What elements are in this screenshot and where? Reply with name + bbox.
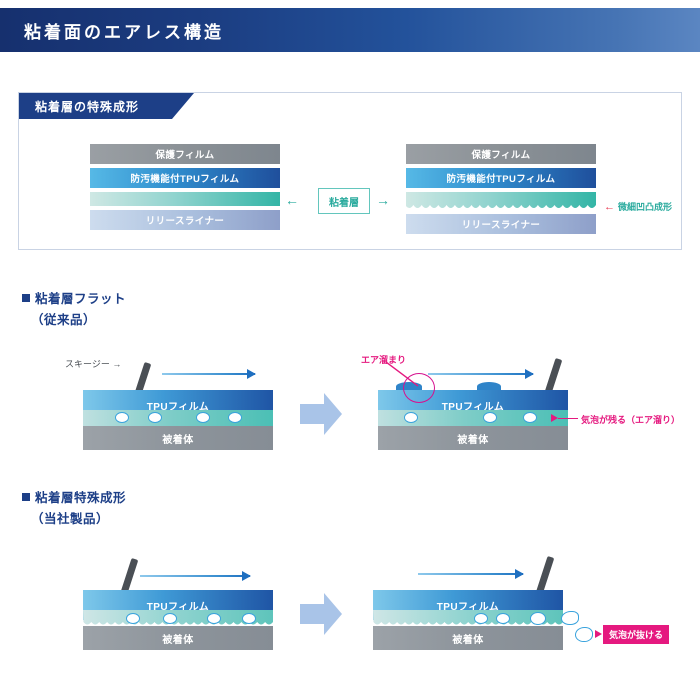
layer-stack-textured: 保護フィルム 防汚機能付TPUフィルム リリースライナー [406,144,596,234]
process-arrow-flat [300,392,342,436]
bubbles-escape-label: 気泡が抜ける [603,625,669,644]
arrow-line [418,573,523,575]
layer-label: 防汚機能付TPUフィルム [447,171,556,185]
page-root: 粘着面のエアレス構造 粘着層の特殊成形 保護フィルム 防汚機能付TPUフィルム … [0,0,700,700]
layer-protective-film: 保護フィルム [90,144,280,164]
substrate-block: 被着体 [373,626,563,650]
substrate-block: 被着体 [378,426,568,450]
bubbles-remain-leader-line [558,418,578,419]
layer-label: リリースライナー [462,217,541,231]
layer-adhesive-flat [90,192,280,206]
substrate-label: 被着体 [457,431,488,446]
escaping-bubble [561,611,579,625]
arrow-line [428,373,533,375]
air-bubble [404,412,418,423]
bullet-square-icon [22,493,30,501]
substrate-block: 被着体 [83,426,273,450]
air-bubble [163,613,177,624]
air-bubble [228,412,242,423]
escaping-bubble [575,627,593,642]
bullet-square-icon [22,294,30,302]
arrow-left-icon: ← [285,193,299,207]
flow-direction-arrow [162,373,255,375]
air-bubble [207,613,221,624]
air-bubble [496,613,510,624]
arrow-right-icon: → [376,193,390,207]
squeegee-label: スキージー → [65,357,121,370]
arrow-head-magenta-icon [595,630,602,638]
air-bubble [148,412,162,423]
flow-direction-arrow [140,575,250,577]
layer-antifouling-tpu-film: 防汚機能付TPUフィルム [406,168,596,188]
section-heading-flat: 粘着層フラット [22,288,126,307]
air-pocket-highlight-circle [403,373,435,403]
section-heading-textured-label: 粘着層特殊成形 [35,491,126,505]
air-bubble [196,412,210,423]
layer-release-liner: リリースライナー [406,214,596,234]
section-heading-textured: 粘着層特殊成形 [22,487,126,506]
layer-label: 保護フィルム [471,147,530,161]
substrate-label: 被着体 [162,431,193,446]
layer-label: 防汚機能付TPUフィルム [131,171,240,185]
arrow-head-icon [247,369,256,379]
air-bubble [242,613,256,624]
layer-release-liner: リリースライナー [90,210,280,230]
arrow-line [162,373,255,375]
adhesive-layer-callout: 粘着層 [318,188,370,214]
layer-adhesive-textured [406,192,596,206]
air-bubble [483,412,497,423]
fine-texture-note-label: 微細凹凸成形 [618,200,672,213]
arrow-head-icon [525,369,534,379]
layer-label: リリースライナー [146,213,225,227]
layer-label: 保護フィルム [155,147,214,161]
section-heading-flat-label: 粘着層フラット [35,292,126,306]
process-arrow-textured [300,592,342,636]
air-bubble [115,412,129,423]
arrow-left-red-icon: ← [604,201,615,213]
bubbles-remain-label: 気泡が残る（エア溜り） [581,413,680,426]
panel-tab-label: 粘着層の特殊成形 [19,93,194,119]
layer-stack-flat: 保護フィルム 防汚機能付TPUフィルム リリースライナー [90,144,280,230]
air-bubble [126,613,140,624]
layer-antifouling-tpu-film: 防汚機能付TPUフィルム [90,168,280,188]
page-title: 粘着面のエアレス構造 [0,18,224,43]
fine-texture-note: ← 微細凹凸成形 [604,200,672,213]
page-header: 粘着面のエアレス構造 [0,8,700,52]
substrate-block: 被着体 [83,626,273,650]
air-bubble [530,612,546,625]
flow-direction-arrow [428,373,533,375]
flow-direction-arrow [418,573,523,575]
section-subheading-textured: （当社製品） [31,508,109,527]
substrate-label: 被着体 [162,631,193,646]
arrow-head-icon [242,571,251,581]
arrow-head-magenta-icon [551,414,558,422]
air-bubble [523,412,537,423]
arrow-line [140,575,250,577]
adhesive-band-flat [83,410,273,426]
arrow-head-icon [515,569,524,579]
air-bubble [474,613,488,624]
substrate-label: 被着体 [452,631,483,646]
layer-protective-film: 保護フィルム [406,144,596,164]
section-subheading-flat: （従来品） [31,309,96,328]
